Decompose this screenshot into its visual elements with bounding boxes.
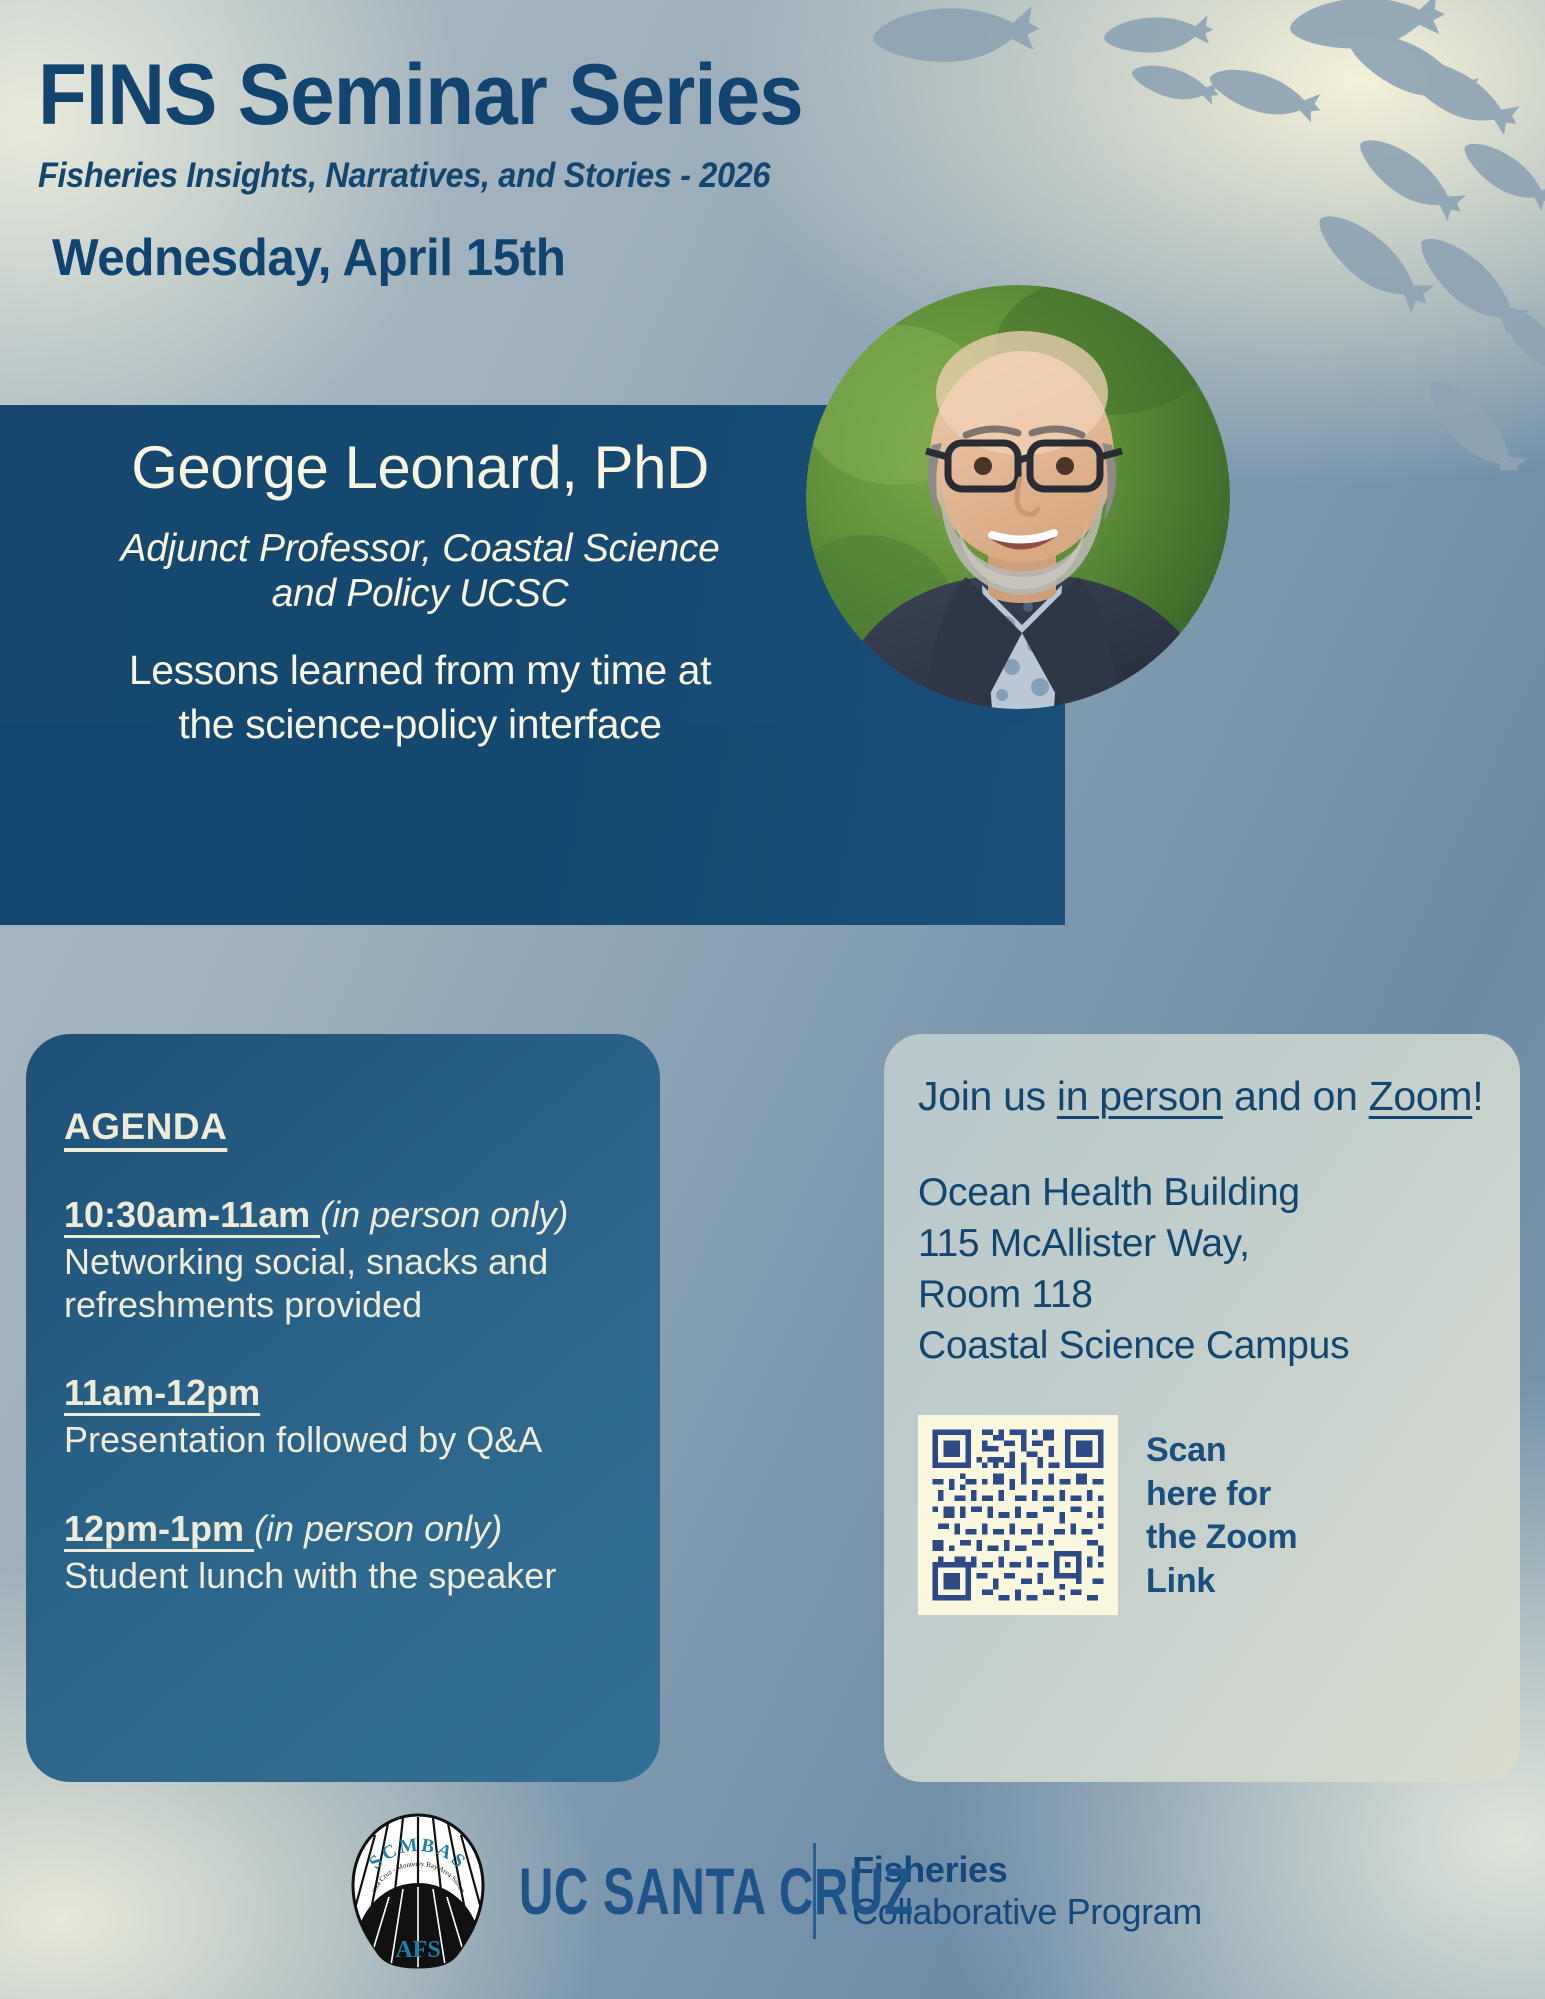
agenda-description: Networking social, snacks and refreshmen… (64, 1240, 644, 1326)
agenda-note: (in person only) (320, 1194, 568, 1235)
speaker-name: George Leonard, PhD (131, 433, 709, 502)
scan-instructions: Scan here for the Zoom Link (1146, 1415, 1297, 1603)
join-instructions: Join us in person and on Zoom! (918, 1070, 1490, 1122)
zoom-link[interactable]: Zoom (1369, 1073, 1473, 1119)
talk-title-line1: Lessons learned from my time at (129, 647, 711, 693)
talk-title: Lessons learned from my time at the scie… (129, 644, 711, 751)
agenda-item: 11am-12pm Presentation followed by Q&A (64, 1372, 660, 1461)
scmbas-shell-logo: SCMBAS Santa Cruz - Monterey Bay Area Su… (343, 1811, 493, 1971)
agenda-card: AGENDA 10:30am-11am (in person only) Net… (26, 1034, 660, 1782)
speaker-role-line2: and Policy UCSC (272, 572, 569, 615)
venue-building: Ocean Health Building (918, 1171, 1300, 1214)
page-subtitle: Fisheries Insights, Narratives, and Stor… (38, 156, 931, 196)
speaker-role: Adjunct Professor, Coastal Science and P… (121, 526, 720, 616)
agenda-time: 11am-12pm (64, 1372, 260, 1413)
join-middle: and on (1223, 1073, 1369, 1119)
event-date: Wednesday, April 15th (52, 228, 565, 288)
venue-campus: Coastal Science Campus (918, 1324, 1349, 1367)
page-title: FINS Seminar Series (38, 52, 931, 138)
avatar (806, 285, 1230, 709)
venue-address: Ocean Health Building 115 McAllister Way… (918, 1168, 1490, 1371)
poster-header: FINS Seminar Series Fisheries Insights, … (38, 52, 998, 196)
scan-line3: the Zoom (1146, 1518, 1297, 1556)
join-suffix: ! (1472, 1073, 1483, 1119)
agenda-item: 12pm-1pm (in person only) Student lunch … (64, 1508, 660, 1597)
agenda-description: Student lunch with the speaker (64, 1554, 644, 1597)
agenda-note: (in person only) (254, 1508, 502, 1549)
join-prefix: Join us (918, 1073, 1057, 1119)
ucsc-wordmark: UC SANTA CRUZ (519, 1853, 757, 1929)
talk-title-line2: the science-policy interface (178, 701, 661, 747)
speaker-details: George Leonard, PhD Adjunct Professor, C… (0, 405, 840, 925)
footer-logos: SCMBAS Santa Cruz - Monterey Bay Area Su… (0, 1801, 1545, 1981)
qr-code[interactable] (918, 1415, 1118, 1615)
attendance-info-card: Join us in person and on Zoom! Ocean Hea… (884, 1034, 1520, 1782)
agenda-time: 10:30am-11am (64, 1194, 320, 1235)
agenda-time: 12pm-1pm (64, 1508, 254, 1549)
speaker-role-line1: Adjunct Professor, Coastal Science (121, 527, 720, 570)
afs-monogram: AFS (395, 1937, 440, 1963)
agenda-heading: AGENDA (64, 1106, 660, 1148)
venue-street: 115 McAllister Way, (918, 1222, 1250, 1265)
agenda-description: Presentation followed by Q&A (64, 1418, 644, 1461)
agenda-item: 10:30am-11am (in person only) Networking… (64, 1194, 660, 1326)
scan-line2: here for (1146, 1475, 1271, 1513)
venue-room: Room 118 (918, 1273, 1093, 1316)
scan-line1: Scan (1146, 1431, 1226, 1469)
in-person-link[interactable]: in person (1057, 1073, 1223, 1119)
qr-section: Scan here for the Zoom Link (918, 1415, 1490, 1615)
scan-line4: Link (1146, 1562, 1215, 1600)
